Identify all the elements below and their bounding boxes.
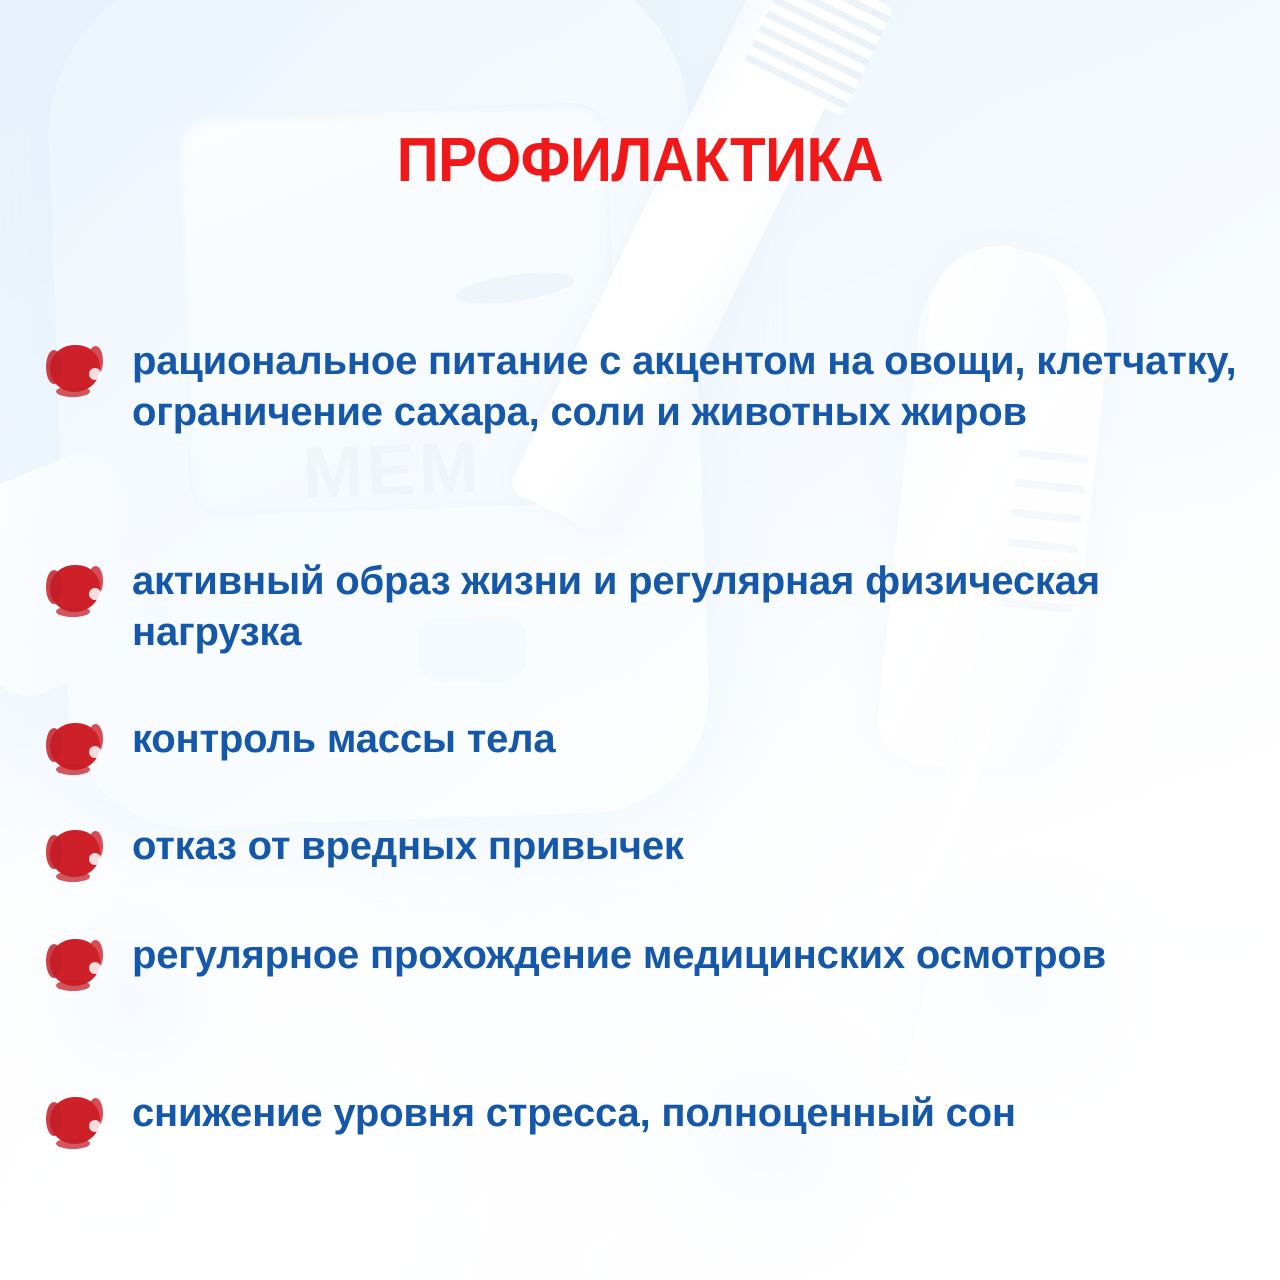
list-item-label: активный образ жизни и регулярная физиче… xyxy=(132,556,1248,658)
page-title: ПРОФИЛАКТИКА xyxy=(38,126,1241,196)
red-dot-icon xyxy=(48,722,102,772)
list-item-label: контроль массы тела xyxy=(132,714,555,765)
poster-content: ПРОФИЛАКТИКА рациональное питание с акце… xyxy=(0,0,1280,1280)
list-item-nutrition: рациональное питание с акцентом на овощи… xyxy=(48,336,1248,438)
list-item-label: снижение уровня стресса, полноценный сон xyxy=(132,1088,1016,1139)
list-item-checkups: регулярное прохождение медицинских осмот… xyxy=(48,930,1106,988)
prevention-poster: MEM ПРОФИЛАКТИКА рациональное питание с … xyxy=(0,0,1280,1280)
red-dot-icon xyxy=(48,829,102,879)
list-item-weight: контроль массы тела xyxy=(48,714,555,772)
red-dot-icon xyxy=(48,938,102,988)
red-dot-icon xyxy=(48,344,102,394)
list-item-habits: отказ от вредных привычек xyxy=(48,821,684,879)
red-dot-icon xyxy=(48,1096,102,1146)
list-item-label: отказ от вредных привычек xyxy=(132,821,684,872)
red-dot-icon xyxy=(48,564,102,614)
list-item-activity: активный образ жизни и регулярная физиче… xyxy=(48,556,1248,658)
list-item-stress: снижение уровня стресса, полноценный сон xyxy=(48,1088,1016,1146)
list-item-label: регулярное прохождение медицинских осмот… xyxy=(132,930,1106,981)
list-item-label: рациональное питание с акцентом на овощи… xyxy=(132,336,1248,438)
